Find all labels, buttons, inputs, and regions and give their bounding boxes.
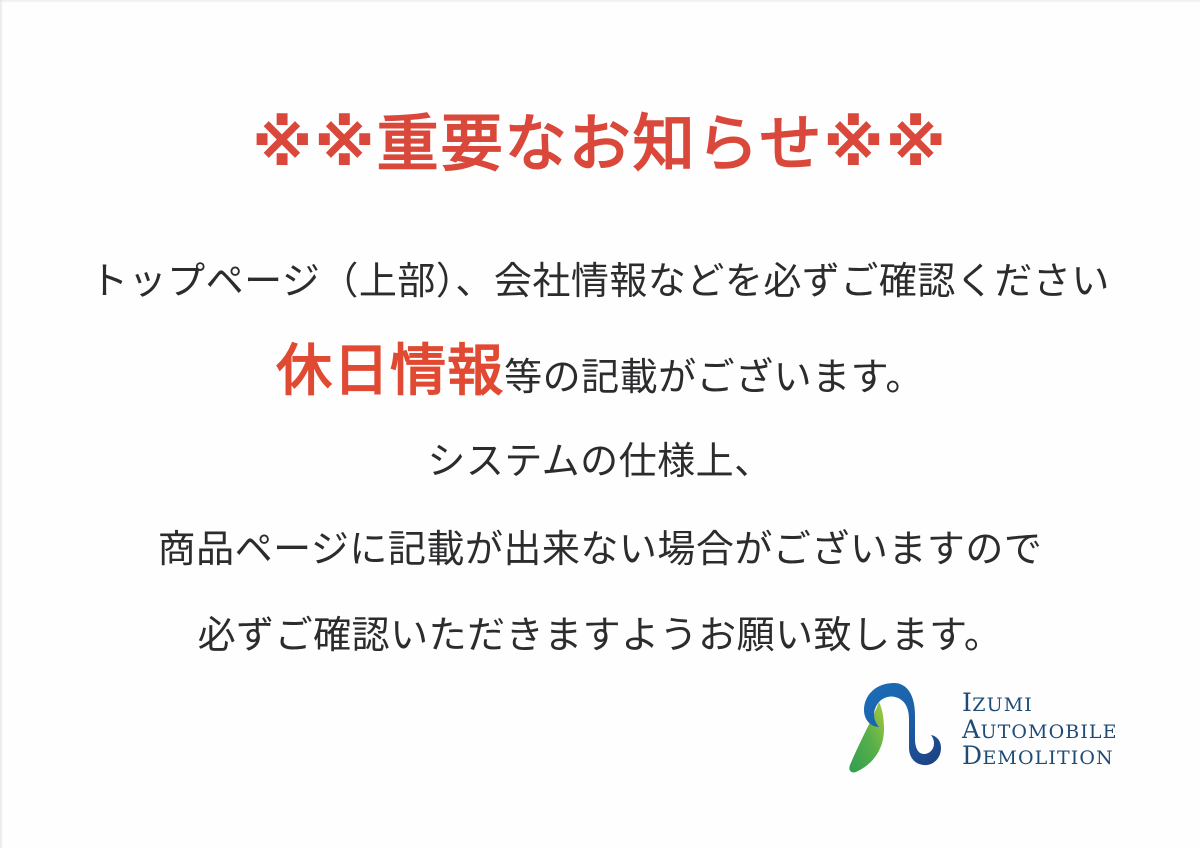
- notice-line-2: 休日情報 等の記載がございます。: [0, 344, 1200, 400]
- logo-izumi-rest: ZUMI: [972, 694, 1033, 716]
- scan-edge-top: [0, 0, 1200, 3]
- notice-page: ※※重要なお知らせ※※ トップページ（上部）、会社情報などを必ずご確認ください …: [0, 0, 1200, 848]
- izumi-swirl-leaf-mark: [838, 671, 956, 789]
- logo-wordmark: IZUMI AUTOMOBILE DEMOLITION: [962, 690, 1118, 770]
- logo-demolition-rest: EMOLITION: [982, 747, 1113, 769]
- holiday-info-highlight: 休日情報: [276, 344, 504, 400]
- notice-line-4: 商品ページに記載が出来ない場合がございますので: [0, 530, 1200, 568]
- company-logo: IZUMI AUTOMOBILE DEMOLITION: [838, 668, 1126, 792]
- logo-wordmark-line-izumi: IZUMI: [962, 690, 1118, 717]
- notice-line-3: システムの仕様上、: [0, 442, 1200, 480]
- page-title: ※※重要なお知らせ※※: [0, 108, 1200, 179]
- notice-line-2-tail: 等の記載がございます。: [504, 358, 924, 396]
- logo-automobile-cap: A: [962, 715, 980, 744]
- notice-line-1: トップページ（上部）、会社情報などを必ずご確認ください: [0, 262, 1200, 300]
- logo-wordmark-line-demolition: DEMOLITION: [962, 743, 1118, 770]
- logo-automobile-rest: UTOMOBILE: [980, 721, 1117, 743]
- logo-wordmark-line-automobile: AUTOMOBILE: [962, 717, 1118, 744]
- notice-body: トップページ（上部）、会社情報などを必ずご確認ください 休日情報 等の記載がござ…: [0, 262, 1200, 654]
- notice-line-5: 必ずご確認いただきますようお願い致します。: [0, 616, 1200, 654]
- logo-demolition-cap: D: [962, 741, 982, 770]
- logo-izumi-cap: I: [962, 688, 972, 717]
